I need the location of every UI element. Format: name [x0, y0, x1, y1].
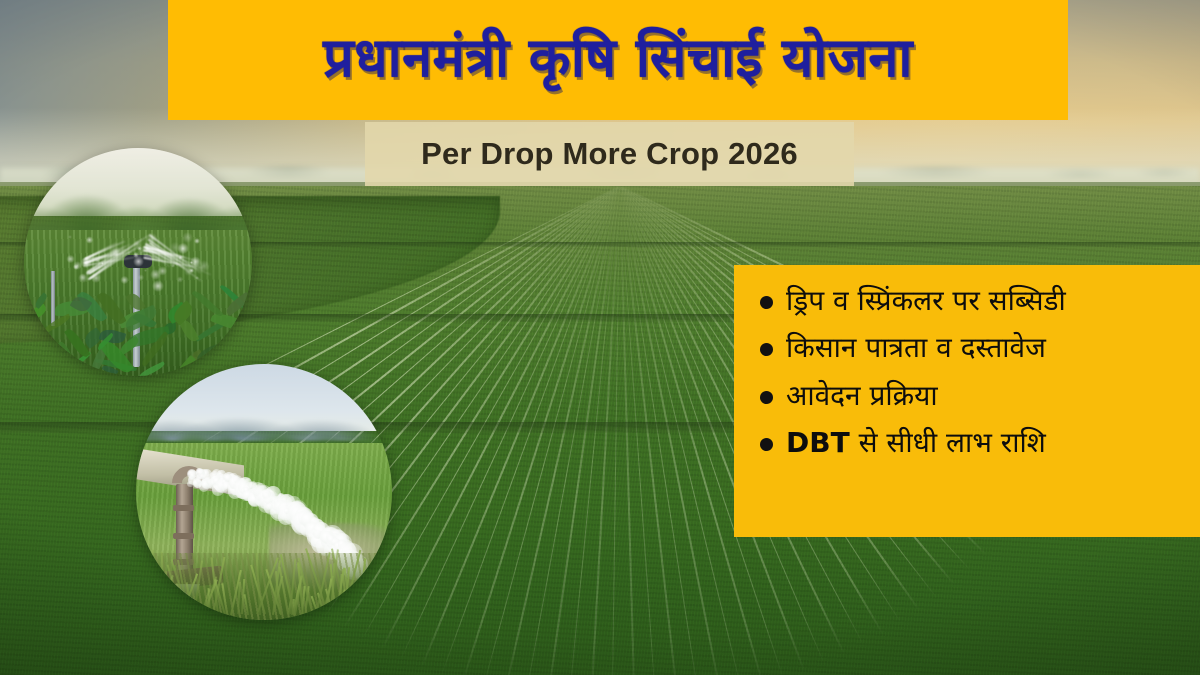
list-item-label: DBT से सीधी लाभ राशि — [786, 425, 1046, 461]
title-banner: प्रधानमंत्री कृषि सिंचाई योजना — [168, 0, 1068, 120]
bullet-dot-icon — [760, 343, 773, 356]
subtitle-bar: Per Drop More Crop 2026 — [365, 122, 854, 186]
tubewell-foreground-reeds — [136, 553, 392, 620]
list-item[interactable]: आवेदन प्रक्रिया — [760, 378, 1184, 414]
list-item-label: किसान पात्रता व दस्तावेज — [786, 330, 1046, 366]
list-item-label: ड्रिप व स्प्रिंकलर पर सब्सिडी — [786, 283, 1066, 319]
bullet-dot-icon — [760, 391, 773, 404]
bullet-dot-icon — [760, 438, 773, 451]
tubewell-water-jet — [190, 469, 344, 556]
secondary-sprinkler-pipe — [51, 271, 55, 326]
sprinkler-photo-circle — [24, 148, 252, 376]
subtitle-text: Per Drop More Crop 2026 — [421, 136, 798, 172]
poster-canvas: प्रधानमंत्री कृषि सिंचाई योजना Per Drop … — [0, 0, 1200, 675]
highlights-panel: ड्रिप व स्प्रिंकलर पर सब्सिडीकिसान पात्र… — [734, 265, 1200, 537]
page-title: प्रधानमंत्री कृषि सिंचाई योजना — [323, 30, 913, 91]
list-item[interactable]: किसान पात्रता व दस्तावेज — [760, 330, 1184, 366]
list-item-label: आवेदन प्रक्रिया — [786, 378, 938, 414]
list-item[interactable]: ड्रिप व स्प्रिंकलर पर सब्सिडी — [760, 283, 1184, 319]
tubewell-photo-circle — [136, 364, 392, 620]
highlights-list: ड्रिप व स्प्रिंकलर पर सब्सिडीकिसान पात्र… — [760, 283, 1184, 462]
emphasis-text: DBT — [786, 426, 850, 459]
bullet-dot-icon — [760, 296, 773, 309]
list-item[interactable]: DBT से सीधी लाभ राशि — [760, 425, 1184, 461]
